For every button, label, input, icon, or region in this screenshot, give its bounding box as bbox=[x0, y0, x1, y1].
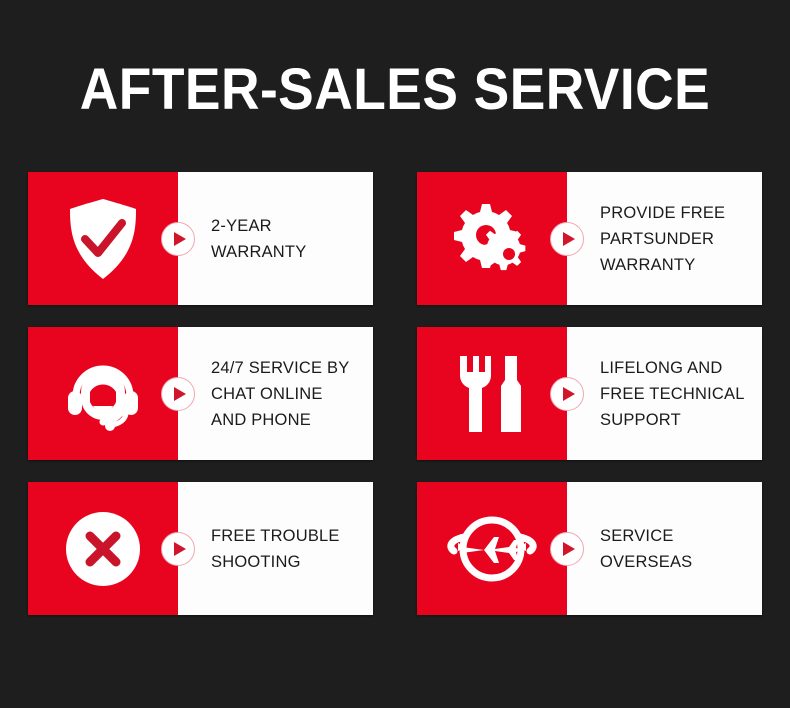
arrow-triangle bbox=[563, 542, 575, 556]
icon-panel bbox=[417, 327, 567, 460]
label-line: PROVIDE FREE bbox=[600, 200, 725, 226]
service-card-label: LIFELONG AND FREE TECHNICAL SUPPORT bbox=[600, 355, 745, 433]
arrow-right-badge-icon bbox=[550, 222, 584, 256]
icon-panel bbox=[28, 327, 178, 460]
arrow-right-badge-icon bbox=[550, 377, 584, 411]
label-line: SUPPORT bbox=[600, 407, 745, 433]
text-panel: LIFELONG AND FREE TECHNICAL SUPPORT bbox=[567, 327, 762, 460]
arrow-right-badge-icon bbox=[161, 532, 195, 566]
label-line: AND PHONE bbox=[211, 407, 349, 433]
service-card-service-overseas[interactable]: SERVICE OVERSEAS bbox=[417, 482, 762, 615]
page-title: AFTER-SALES SERVICE bbox=[32, 58, 759, 122]
service-card-247-service[interactable]: 24/7 SERVICE BY CHAT ONLINE AND PHONE bbox=[28, 327, 373, 460]
globe-airplane-icon bbox=[446, 509, 538, 589]
gears-icon bbox=[447, 199, 537, 279]
wrench-screwdriver-icon bbox=[453, 353, 531, 435]
service-card-free-trouble-shooting[interactable]: FREE TROUBLE SHOOTING bbox=[28, 482, 373, 615]
text-panel: PROVIDE FREE PARTSUNDER WARRANTY bbox=[567, 172, 762, 305]
arrow-right-badge-icon bbox=[161, 222, 195, 256]
label-line: WARRANTY bbox=[600, 252, 725, 278]
shield-check-icon bbox=[66, 197, 140, 281]
icon-panel bbox=[28, 482, 178, 615]
service-card-label: FREE TROUBLE SHOOTING bbox=[211, 523, 340, 575]
arrow-triangle bbox=[174, 542, 186, 556]
label-line: LIFELONG AND bbox=[600, 355, 745, 381]
text-panel: 2-YEAR WARRANTY bbox=[178, 172, 373, 305]
text-panel: SERVICE OVERSEAS bbox=[567, 482, 762, 615]
arrow-triangle bbox=[174, 232, 186, 246]
service-card-two-year-warranty[interactable]: 2-YEAR WARRANTY bbox=[28, 172, 373, 305]
arrow-right-badge-icon bbox=[550, 532, 584, 566]
label-line: WARRANTY bbox=[211, 239, 306, 265]
arrow-triangle bbox=[563, 232, 575, 246]
circle-x-icon bbox=[64, 510, 142, 588]
service-card-lifelong-technical-support[interactable]: LIFELONG AND FREE TECHNICAL SUPPORT bbox=[417, 327, 762, 460]
service-card-label: SERVICE OVERSEAS bbox=[600, 523, 752, 575]
arrow-triangle bbox=[174, 387, 186, 401]
label-line: 24/7 SERVICE BY bbox=[211, 355, 349, 381]
headset-support-icon bbox=[60, 352, 146, 436]
label-line: PARTSUNDER bbox=[600, 226, 725, 252]
icon-panel bbox=[417, 482, 567, 615]
arrow-right-badge-icon bbox=[161, 377, 195, 411]
service-card-label: PROVIDE FREE PARTSUNDER WARRANTY bbox=[600, 200, 725, 278]
arrow-triangle bbox=[563, 387, 575, 401]
after-sales-service-page: AFTER-SALES SERVICE 2-YEAR WARRANTY bbox=[0, 0, 790, 708]
service-card-label: 2-YEAR WARRANTY bbox=[211, 213, 306, 265]
label-line: FREE TROUBLE bbox=[211, 523, 340, 549]
label-line: FREE TECHNICAL bbox=[600, 381, 745, 407]
label-line: 2-YEAR bbox=[211, 213, 306, 239]
service-cards-grid: 2-YEAR WARRANTY bbox=[28, 172, 762, 616]
text-panel: FREE TROUBLE SHOOTING bbox=[178, 482, 373, 615]
service-card-label: 24/7 SERVICE BY CHAT ONLINE AND PHONE bbox=[211, 355, 349, 433]
label-line: SHOOTING bbox=[211, 549, 340, 575]
icon-panel bbox=[28, 172, 178, 305]
label-line: CHAT ONLINE bbox=[211, 381, 349, 407]
service-card-free-parts-under-warranty[interactable]: PROVIDE FREE PARTSUNDER WARRANTY bbox=[417, 172, 762, 305]
text-panel: 24/7 SERVICE BY CHAT ONLINE AND PHONE bbox=[178, 327, 373, 460]
label-line: SERVICE OVERSEAS bbox=[600, 523, 752, 575]
icon-panel bbox=[417, 172, 567, 305]
